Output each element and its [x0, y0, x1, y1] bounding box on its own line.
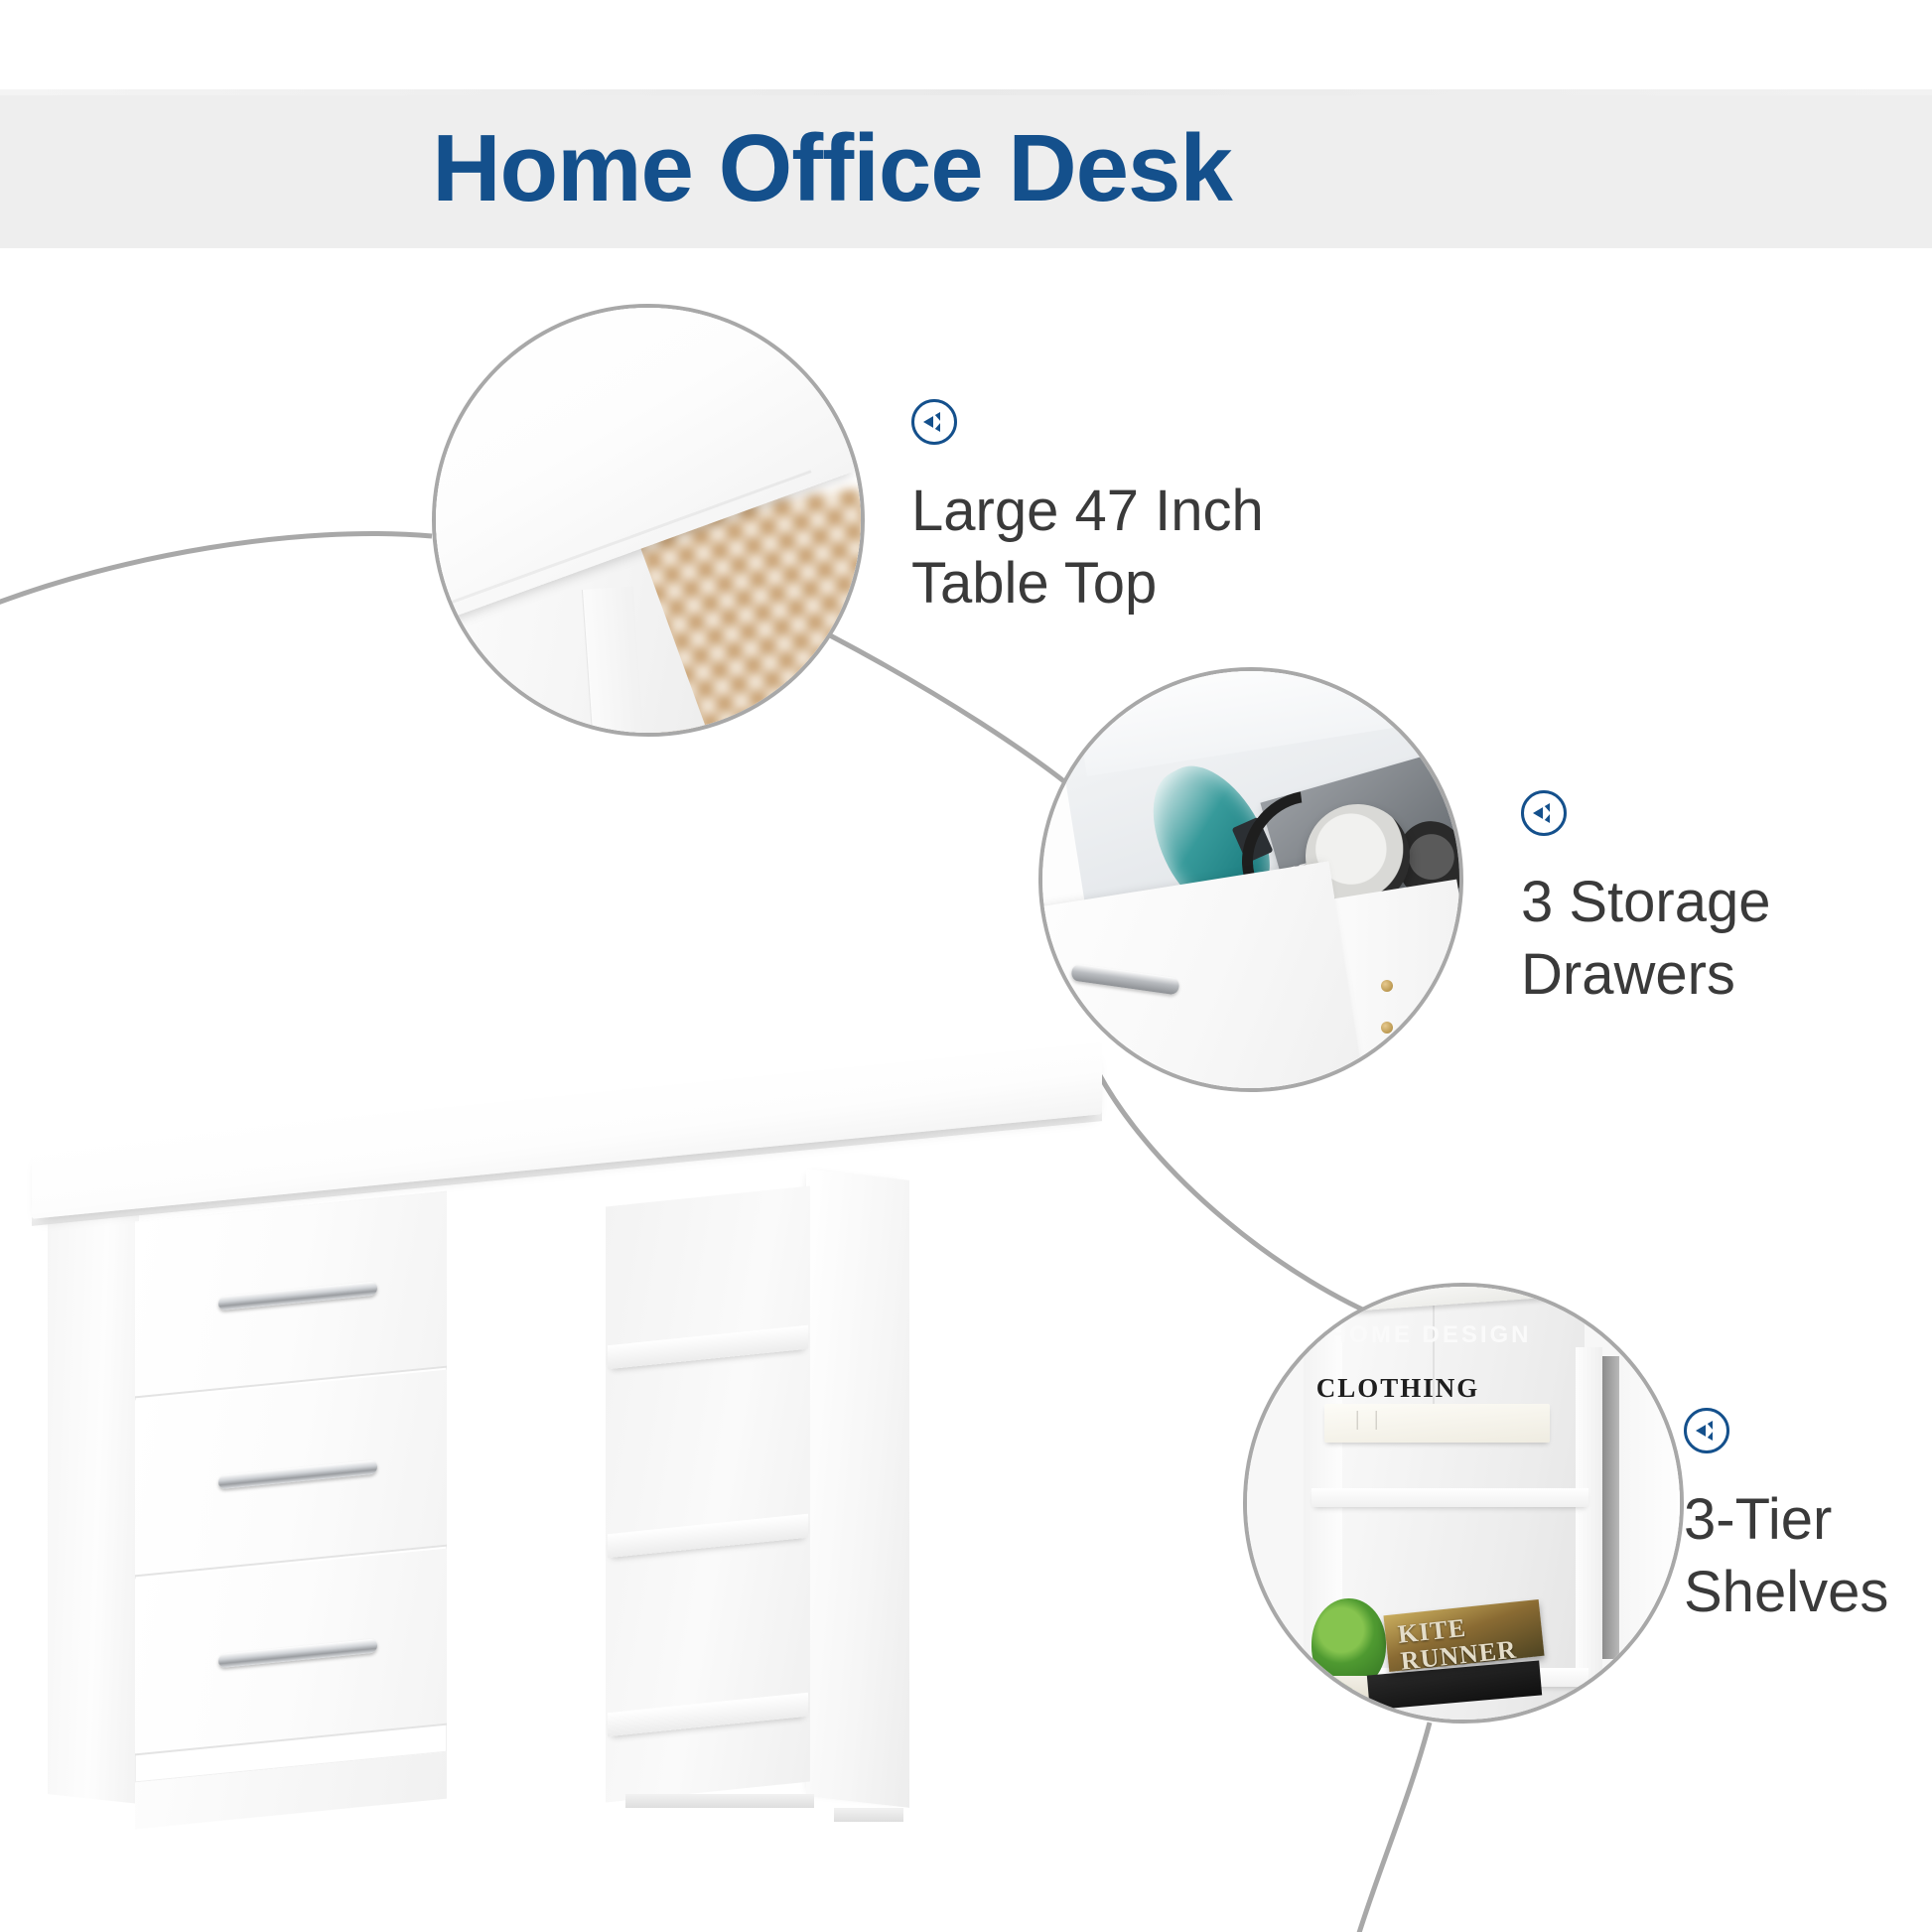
book-home-design-title: HOME DESIGN	[1329, 1321, 1532, 1349]
desk-drawer-column	[135, 1191, 447, 1783]
left-arrow-circle-icon	[1684, 1408, 1729, 1453]
shelf-right-panel	[1576, 1347, 1601, 1685]
drawer-3	[135, 1549, 447, 1756]
plant-pot	[1322, 1676, 1370, 1711]
callout-storage-drawers-label: 3 Storage Drawers	[1521, 866, 1771, 1011]
left-arrow-circle-icon	[911, 399, 957, 445]
desk-shelf-foot	[625, 1794, 814, 1808]
book-scribble-lines	[1347, 1411, 1505, 1431]
desk-right-panel-foot	[834, 1808, 903, 1822]
shelf-board-middle	[1311, 1488, 1588, 1507]
cabinet-side-gap	[1602, 1356, 1619, 1659]
cam-screw-bottom	[1381, 1022, 1393, 1034]
drawer-3-handle	[218, 1638, 377, 1668]
desk-right-side-panel	[806, 1169, 909, 1808]
drawer-1-handle	[218, 1281, 377, 1311]
inset-table-top-closeup	[432, 304, 865, 737]
cabinet-outer-face	[1619, 1321, 1684, 1694]
infographic-canvas: Home Office Desk Large 47 Inch Table Top	[0, 0, 1932, 1932]
cam-screw-top	[1381, 980, 1393, 992]
callout-table-top-label: Large 47 Inch Table Top	[911, 475, 1264, 620]
inset-shelves-closeup: KITE RUNNER HOME DESIGN CLOTHING	[1243, 1283, 1684, 1724]
drawer-1	[135, 1191, 447, 1399]
left-arrow-circle-icon	[1521, 790, 1567, 836]
book-clothing-title: CLOTHING	[1316, 1373, 1480, 1404]
desk-left-side-panel	[48, 1178, 139, 1804]
callout-table-top: Large 47 Inch Table Top	[911, 399, 1264, 620]
drawer-2-handle	[218, 1459, 377, 1489]
callout-tier-shelves-label: 3-Tier Shelves	[1684, 1483, 1888, 1628]
callout-tier-shelves: 3-Tier Shelves	[1684, 1408, 1888, 1628]
product-image-home-office-desk	[20, 1008, 1162, 1822]
book-scribble	[1324, 1404, 1550, 1443]
callout-storage-drawers: 3 Storage Drawers	[1521, 790, 1771, 1011]
drawer-2	[135, 1370, 447, 1578]
